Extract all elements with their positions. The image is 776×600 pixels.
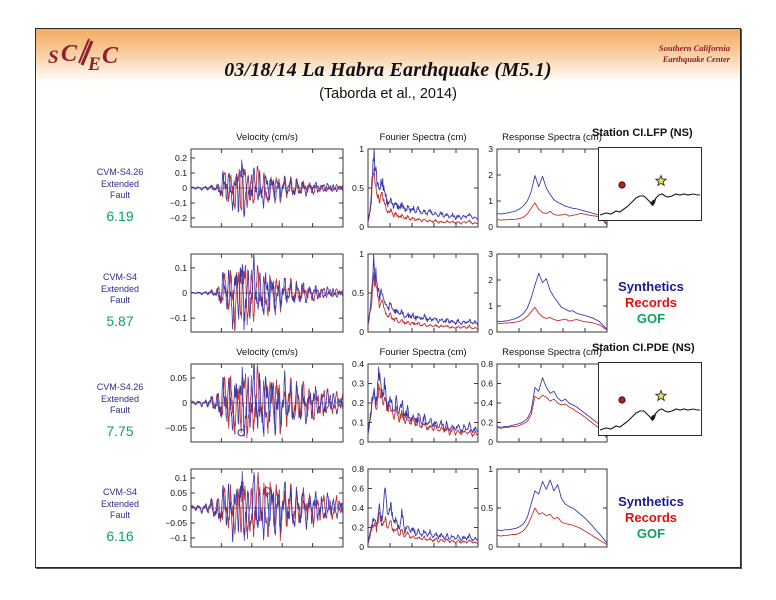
y-tick-label: −0.2: [170, 213, 187, 223]
plot-velocity-row-3: 0.10.050−0.05−0.1: [191, 467, 347, 555]
y-tick-label: 0.2: [481, 418, 493, 428]
y-tick-label: 0.8: [481, 359, 493, 369]
y-tick-label: 0.4: [352, 503, 364, 513]
y-tick-label: 1: [488, 301, 493, 311]
y-tick-label: 1: [488, 464, 493, 474]
y-tick-label: 0: [488, 437, 493, 447]
legend-records: Records: [576, 295, 726, 311]
y-tick-label: 1: [488, 196, 493, 206]
y-tick-label: 0.2: [352, 398, 364, 408]
y-tick-label: 2: [488, 170, 493, 180]
plot-velocity-row-0: 0.20.10−0.1−0.2: [191, 147, 347, 235]
y-tick-label: 0: [359, 327, 364, 337]
y-tick-label: 3: [488, 249, 493, 259]
slide-canvas: S C E C Southern California Earthquake C…: [35, 28, 741, 568]
column-title-fourier: Fourier Spectra (cm): [368, 132, 478, 143]
y-tick-label: 0: [359, 437, 364, 447]
y-tick-label: 0: [182, 288, 187, 298]
station-title: Station CI.PDE (NS): [592, 342, 695, 354]
y-tick-label: −0.05: [165, 518, 187, 528]
legend-1: SyntheticsRecordsGOF: [576, 494, 726, 542]
y-tick-label: 1: [359, 144, 364, 154]
column-title-response: Response Spectra (cm): [497, 347, 607, 358]
y-tick-label: −0.05: [165, 423, 187, 433]
y-tick-label: 0.1: [175, 168, 187, 178]
y-tick-label: 0: [359, 222, 364, 232]
y-tick-label: 0.3: [352, 379, 364, 389]
station-title: Station CI.LFP (NS): [592, 127, 693, 139]
y-tick-label: 0: [182, 183, 187, 193]
y-tick-label: 0: [488, 327, 493, 337]
y-tick-label: 0.5: [352, 183, 364, 193]
plot-velocity-row-2: 0.050−0.05: [191, 362, 347, 450]
y-tick-label: 0.05: [170, 373, 187, 383]
y-tick-label: 0.4: [481, 398, 493, 408]
y-tick-label: 0.5: [352, 288, 364, 298]
y-tick-label: 0.2: [175, 153, 187, 163]
legend-gof: GOF: [576, 311, 726, 327]
station-marker-icon: [619, 182, 625, 188]
legend-gof: GOF: [576, 526, 726, 542]
y-tick-label: 0: [359, 542, 364, 552]
legend-synthetics: Synthetics: [576, 494, 726, 510]
column-title-fourier: Fourier Spectra (cm): [368, 347, 478, 358]
page-subtitle: (Taborda et al., 2014): [36, 86, 740, 102]
y-tick-label: 0.8: [352, 464, 364, 474]
y-tick-label: 0.2: [352, 523, 364, 533]
y-tick-label: 0: [488, 542, 493, 552]
column-title-velocity: Velocity (cm/s): [191, 132, 343, 143]
y-tick-label: 0: [488, 222, 493, 232]
y-tick-label: 0.1: [352, 418, 364, 428]
legend-0: SyntheticsRecordsGOF: [576, 279, 726, 327]
legend-synthetics: Synthetics: [576, 279, 726, 295]
column-title-response: Response Spectra (cm): [497, 132, 607, 143]
y-tick-label: −0.1: [170, 313, 187, 323]
y-tick-label: −0.1: [170, 198, 187, 208]
y-tick-label: 0.6: [481, 379, 493, 389]
legend-records: Records: [576, 510, 726, 526]
column-title-velocity: Velocity (cm/s): [191, 347, 343, 358]
y-tick-label: 0.1: [175, 473, 187, 483]
y-tick-label: 0: [182, 398, 187, 408]
y-tick-label: 3: [488, 144, 493, 154]
station-map-1: [598, 362, 702, 441]
y-tick-label: 0.5: [481, 503, 493, 513]
y-tick-label: 0.05: [170, 488, 187, 498]
y-tick-label: 0.6: [352, 484, 364, 494]
y-tick-label: 1: [359, 249, 364, 259]
station-map-0: [598, 147, 702, 226]
y-tick-label: −0.1: [170, 533, 187, 543]
station-marker-icon: [619, 397, 625, 403]
page-title: 03/18/14 La Habra Earthquake (M5.1): [36, 59, 740, 82]
plot-velocity-row-1: 0.10−0.1: [191, 252, 347, 340]
y-tick-label: 0.1: [175, 263, 187, 273]
y-tick-label: 0: [182, 503, 187, 513]
org-line-1: Southern California: [659, 43, 730, 54]
y-tick-label: 2: [488, 275, 493, 285]
plot-response-row-2: 0.80.60.40.20: [497, 362, 611, 450]
y-tick-label: 0.4: [352, 359, 364, 369]
plot-response-row-0: 3210: [497, 147, 611, 235]
